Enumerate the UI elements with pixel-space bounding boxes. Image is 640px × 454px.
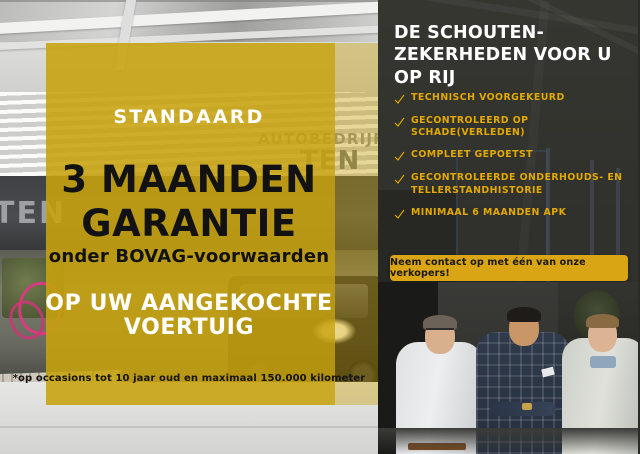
- sales-team-photo: [378, 282, 640, 454]
- check-icon: [394, 94, 405, 105]
- wristwatch: [522, 403, 532, 410]
- list-item: MINIMAAL 6 MAANDEN APK: [394, 207, 638, 220]
- glasses-icon: [426, 328, 454, 334]
- warranty-subhead: onder BOVAG-voorwaarden: [0, 246, 378, 267]
- benefit-label: GECONTROLEERD OP SCHADE(VERLEDEN): [411, 115, 638, 139]
- photo-floor: [378, 428, 640, 454]
- check-icon: [394, 151, 405, 162]
- warranty-applies-line2: VOERTUIG: [0, 315, 378, 340]
- warranty-panel: TEN AUTOBEDRIJF TEN STANDAARD 3 MAANDEN …: [0, 0, 378, 454]
- benefits-list: TECHNISCH VOORGEKEURD GECONTROLEERD OP S…: [394, 92, 638, 230]
- warranty-footnote: *op occasions tot 10 jaar oud en maximaa…: [0, 373, 378, 384]
- check-icon: [394, 174, 405, 185]
- list-item: COMPLEET GEPOETST: [394, 149, 638, 162]
- benefit-label: MINIMAAL 6 MAANDEN APK: [411, 207, 566, 219]
- benefit-label: TECHNISCH VOORGEKEURD: [411, 92, 565, 104]
- warranty-copy: STANDAARD 3 MAANDEN GARANTIE onder BOVAG…: [0, 0, 378, 454]
- contact-sales-button[interactable]: Neem contact op met één van onze verkope…: [390, 255, 628, 281]
- benefit-label: GECONTROLEERDE ONDERHOUDS- EN TELLERSTAN…: [411, 172, 638, 196]
- check-icon: [394, 209, 405, 220]
- benefit-label: COMPLEET GEPOETST: [411, 149, 533, 161]
- warranty-headline-line2: GARANTIE: [0, 205, 378, 242]
- list-item: GECONTROLEERD OP SCHADE(VERLEDEN): [394, 115, 638, 139]
- list-item: GECONTROLEERDE ONDERHOUDS- EN TELLERSTAN…: [394, 172, 638, 196]
- warranty-headline-line1: 3 MAANDEN: [0, 161, 378, 198]
- benefits-heading: DE SCHOUTEN-ZEKERHEDEN VOOR U OP RIJ: [394, 22, 632, 89]
- check-icon: [394, 117, 405, 128]
- promo-banner: TEN AUTOBEDRIJF TEN STANDAARD 3 MAANDEN …: [0, 0, 640, 454]
- warranty-kicker: STANDAARD: [0, 106, 378, 128]
- shirt-collar: [590, 356, 616, 368]
- contact-sales-button-label: Neem contact op met één van onze verkope…: [390, 257, 628, 279]
- hair: [507, 307, 541, 322]
- warranty-applies-line1: OP UW AANGEKOCHTE: [0, 291, 378, 316]
- list-item: TECHNISCH VOORGEKEURD: [394, 92, 638, 105]
- hair: [586, 314, 619, 328]
